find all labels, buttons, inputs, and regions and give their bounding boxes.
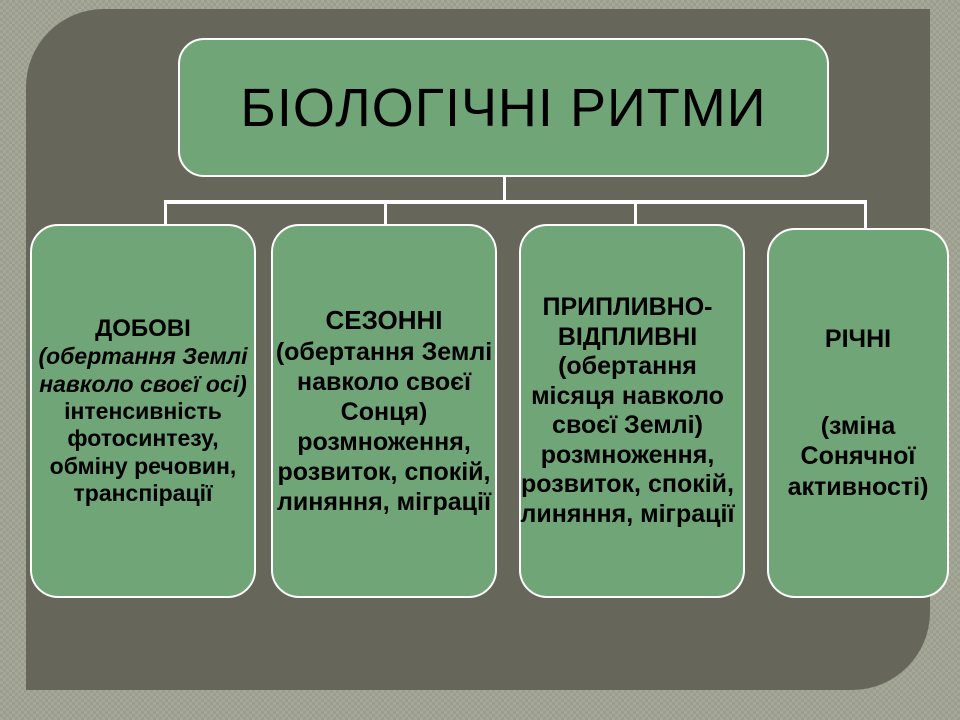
node-detail: розмноження, розвиток, спокій, линяння, … — [514, 441, 741, 530]
node-heading: ДОБОВІ — [34, 315, 252, 344]
node-spacer — [771, 355, 945, 411]
node-heading: СЕЗОННІ — [275, 305, 493, 336]
node-content: СЕЗОННІ (обертання Землі навколо своєї С… — [273, 305, 495, 516]
node-parenthetical: (обертання Землі навколо своєї Сонця) — [275, 337, 493, 427]
diagram-node-prypluvno-vidplyvni[interactable]: ПРИПЛИВНО-ВІДПЛИВНІ (обертання місяця на… — [519, 224, 745, 598]
node-detail: інтенсивність фотосинтезу, обміну речови… — [34, 398, 252, 507]
diagram-root-node[interactable]: БІОЛОГІЧНІ РИТМИ — [178, 38, 829, 177]
node-content: ПРИПЛИВНО-ВІДПЛИВНІ (обертання місяця на… — [512, 293, 743, 529]
connector-horizontal-bar — [164, 200, 867, 204]
node-content: РІЧНІ (зміна Сонячної активності) — [769, 324, 947, 502]
diagram-node-sezonni[interactable]: СЕЗОННІ (обертання Землі навколо своєї С… — [271, 224, 497, 598]
node-content: ДОБОВІ (обертання Землі навколо своєї ос… — [32, 315, 254, 508]
node-detail: розмноження, розвиток, спокій, линяння, … — [275, 427, 493, 517]
node-heading: РІЧНІ — [771, 324, 945, 355]
connector-drop-1 — [164, 200, 167, 226]
diagram-title: БІОЛОГІЧНІ РИТМИ — [240, 81, 766, 135]
diagram-node-richni[interactable]: РІЧНІ (зміна Сонячної активності) — [767, 228, 949, 598]
node-parenthetical: (зміна Сонячної активності) — [771, 411, 945, 503]
slide-canvas: БІОЛОГІЧНІ РИТМИ ДОБОВІ (обертання Землі… — [0, 0, 960, 720]
diagram-node-dobovi[interactable]: ДОБОВІ (обертання Землі навколо своєї ос… — [30, 224, 256, 598]
node-parenthetical: (обертання місяця навколо своєї Землі) — [514, 352, 741, 441]
node-heading: ПРИПЛИВНО-ВІДПЛИВНІ — [514, 293, 741, 352]
node-parenthetical: (обертання Землі навколо своєї осі) — [34, 343, 252, 398]
